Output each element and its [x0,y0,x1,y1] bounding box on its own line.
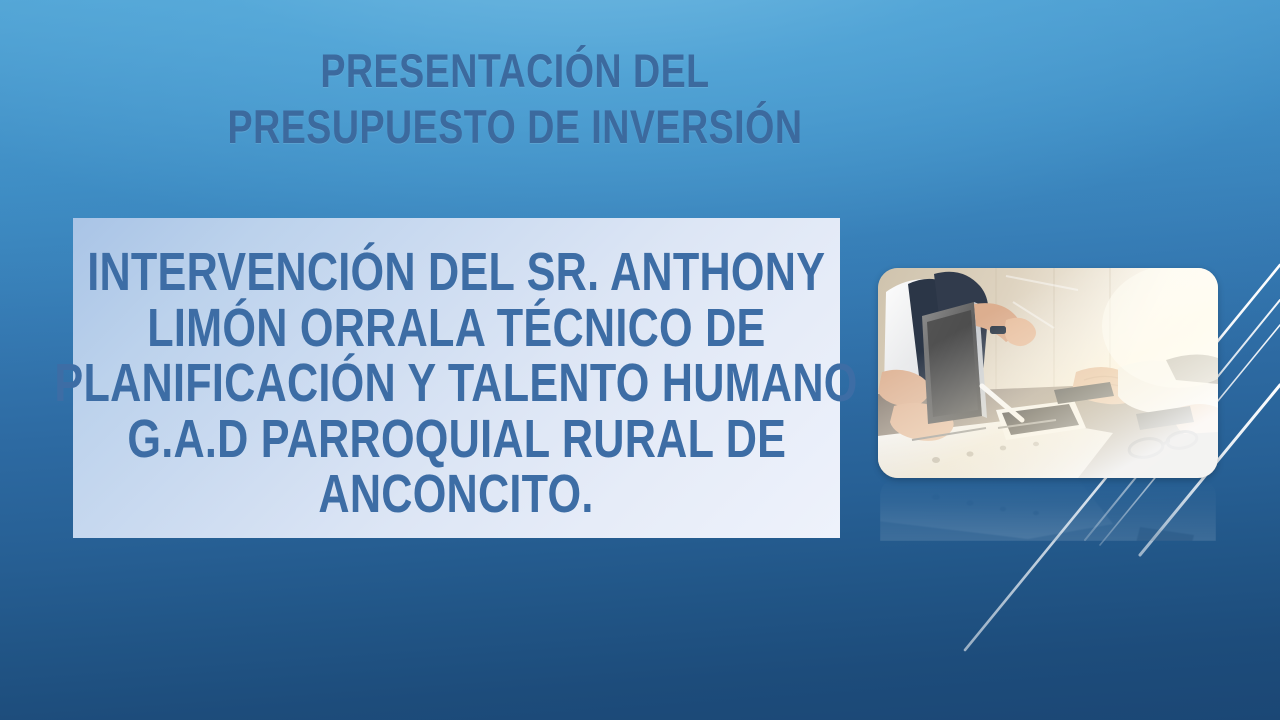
body-line-1: INTERVENCIÓN DEL SR. ANTHONY [88,245,826,301]
body-text-panel: INTERVENCIÓN DEL SR. ANTHONY LIMÓN ORRAL… [73,218,840,538]
meeting-photo-container [878,268,1218,478]
body-line-5: ANCONCITO. [319,467,594,523]
title-line-1: PRESENTACIÓN DEL [103,48,927,94]
body-line-2: LIMÓN ORRALA TÉCNICO DE [147,301,765,357]
body-line-3: PLANIFICACIÓN Y TALENTO HUMANO [55,356,858,412]
body-line-4: G.A.D PARROQUIAL RURAL DE [127,412,786,468]
meeting-photo [878,268,1218,478]
slide-title: PRESENTACIÓN DEL PRESUPUESTO DE INVERSIÓ… [0,48,1030,150]
meeting-photo-reflection [880,479,1216,541]
title-line-2: PRESUPUESTO DE INVERSIÓN [103,104,927,150]
presentation-slide: PRESENTACIÓN DEL PRESUPUESTO DE INVERSIÓ… [0,0,1280,720]
